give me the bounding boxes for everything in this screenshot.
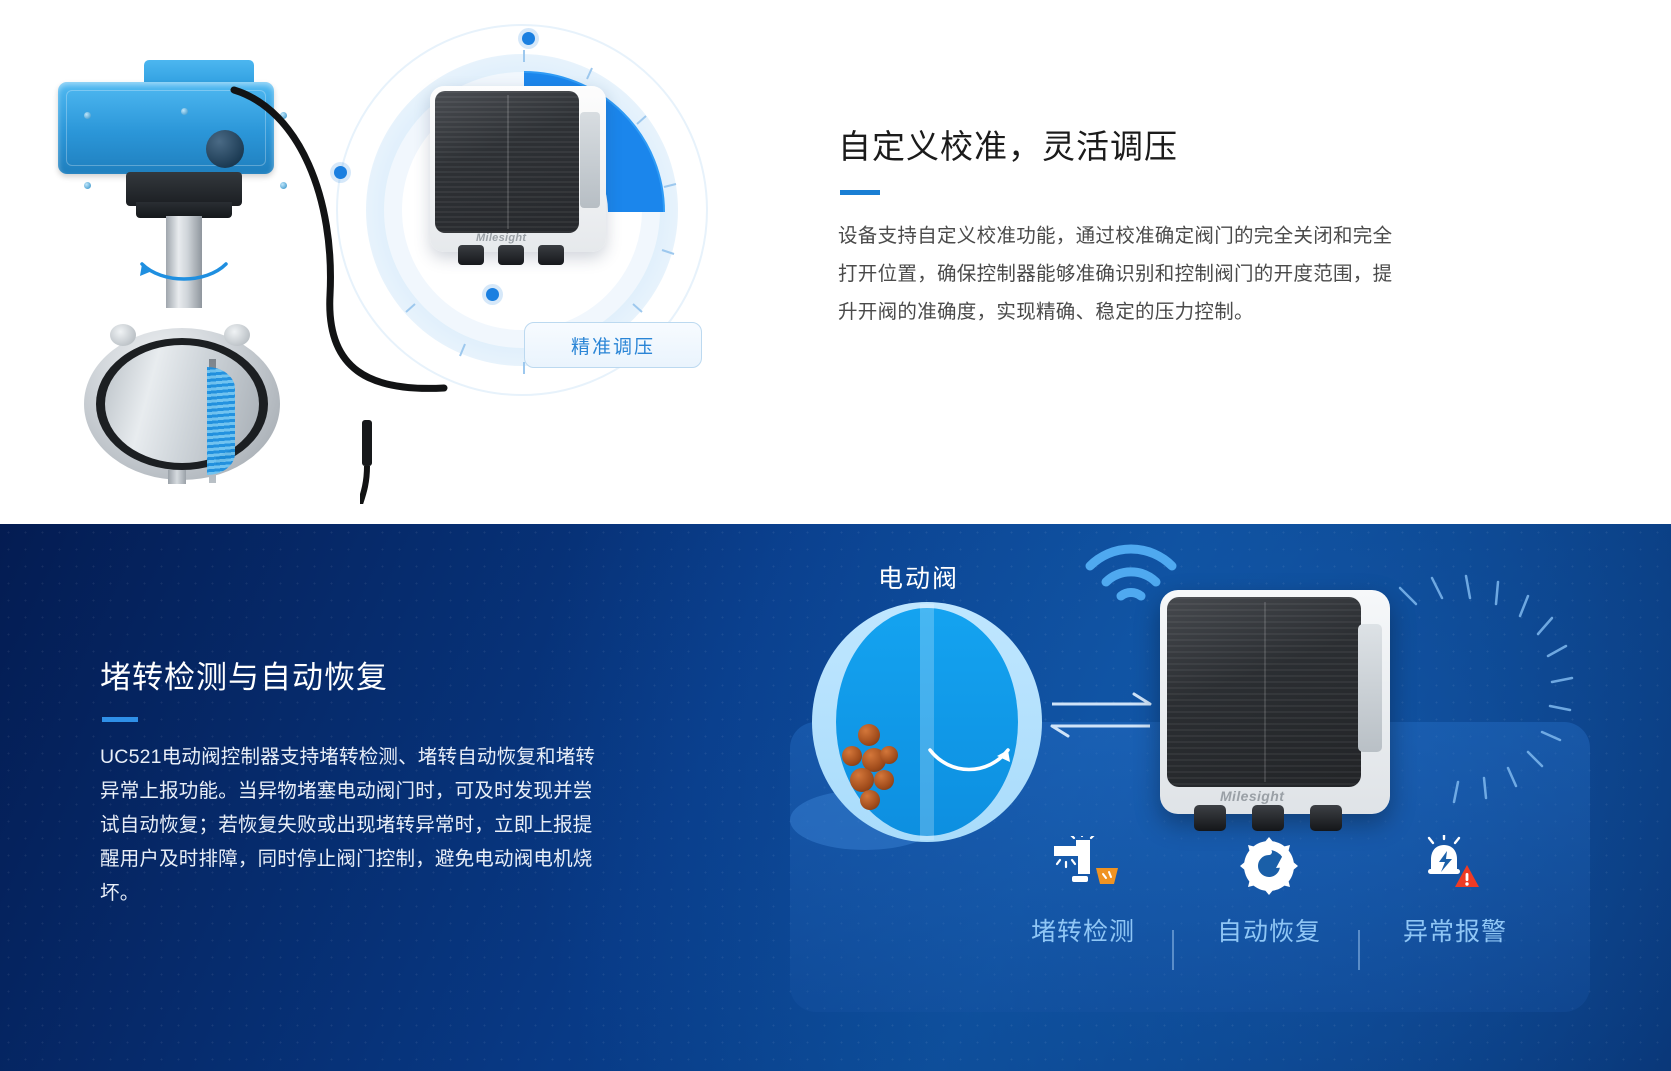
feature-icon-row: 堵转检测 自动恢复 (990, 834, 1550, 984)
faucet-blocked-icon (1046, 836, 1120, 896)
feature-label: 堵转检测 (990, 912, 1176, 948)
precise-pressure-badge: 精准调压 (524, 322, 702, 368)
accent-dot (486, 288, 499, 301)
bottom-heading: 堵转检测与自动恢复 (100, 652, 600, 697)
bottom-section: 堵转检测与自动恢复 UC521电动阀控制器支持堵转检测、堵转自动恢复和堵转异常上… (0, 524, 1671, 1071)
screw-icon (181, 108, 188, 115)
device-connector (1310, 805, 1342, 831)
device-side-strip (580, 112, 600, 208)
device-connector (1194, 805, 1226, 831)
valve-rotation-arrow-icon (924, 742, 1014, 782)
feature-label: 自动恢复 (1176, 912, 1362, 948)
accent-dot (522, 32, 535, 45)
valve-ball-graphic (812, 602, 1042, 842)
top-text-block: 自定义校准，灵活调压 设备支持自定义校准功能，通过校准确定阀门的完全关闭和完全打… (838, 120, 1398, 331)
solar-panel (435, 91, 579, 233)
device-side-strip (1358, 624, 1382, 752)
device-connector (498, 245, 524, 265)
valve-label: 电动阀 (878, 559, 959, 595)
uc521-controller-device: Milesight (1160, 590, 1390, 814)
stall-detection-illustration: 电动阀 (760, 534, 1640, 1064)
product-feature-page: Milesight 精准调压 自定义校准，灵活调压 设备支持自定义校准功能，通过… (0, 0, 1671, 1071)
device-plug-cable (360, 420, 374, 504)
gear-refresh-icon (1238, 835, 1300, 897)
accent-dot (334, 166, 347, 179)
badge-label: 精准调压 (571, 332, 655, 359)
signal-rays-decoration (1380, 574, 1580, 824)
debris-blockage-graphic (840, 724, 912, 816)
feature-auto-recovery: 自动恢复 (1176, 834, 1362, 948)
valve-ball-seam (920, 604, 934, 840)
top-paragraph: 设备支持自定义校准功能，通过校准确定阀门的完全关闭和完全打开位置，确保控制器能够… (838, 217, 1398, 331)
feature-label: 异常报警 (1362, 912, 1548, 948)
top-heading: 自定义校准，灵活调压 (838, 120, 1398, 168)
solar-panel (1167, 597, 1361, 787)
screw-icon (84, 182, 91, 189)
actuator-collar (126, 172, 242, 206)
accent-rule (840, 190, 880, 195)
bottom-paragraph: UC521电动阀控制器支持堵转检测、堵转自动恢复和堵转异常上报功能。当异物堵塞电… (100, 740, 600, 910)
valve-lug (110, 324, 136, 346)
feature-abnormal-alarm: 异常报警 (1362, 834, 1548, 948)
device-connector (458, 245, 484, 265)
alarm-warning-icon (1422, 835, 1488, 897)
screw-icon (84, 112, 91, 119)
feature-stall-detection: 堵转检测 (990, 834, 1176, 948)
device-connector (1252, 805, 1284, 831)
brand-logo: Milesight (1220, 788, 1284, 804)
bidirectional-arrows-icon (1046, 682, 1156, 752)
device-connector (538, 245, 564, 265)
bottom-text-block: 堵转检测与自动恢复 UC521电动阀控制器支持堵转检测、堵转自动恢复和堵转异常上… (100, 652, 600, 910)
accent-rule (102, 717, 138, 722)
uc521-controller-device: Milesight (430, 86, 606, 252)
rotation-arrow-icon (136, 256, 232, 290)
brand-logo: Milesight (476, 232, 526, 244)
top-section: Milesight 精准调压 自定义校准，灵活调压 设备支持自定义校准功能，通过… (0, 0, 1671, 524)
valve-lower-stem (168, 470, 186, 484)
